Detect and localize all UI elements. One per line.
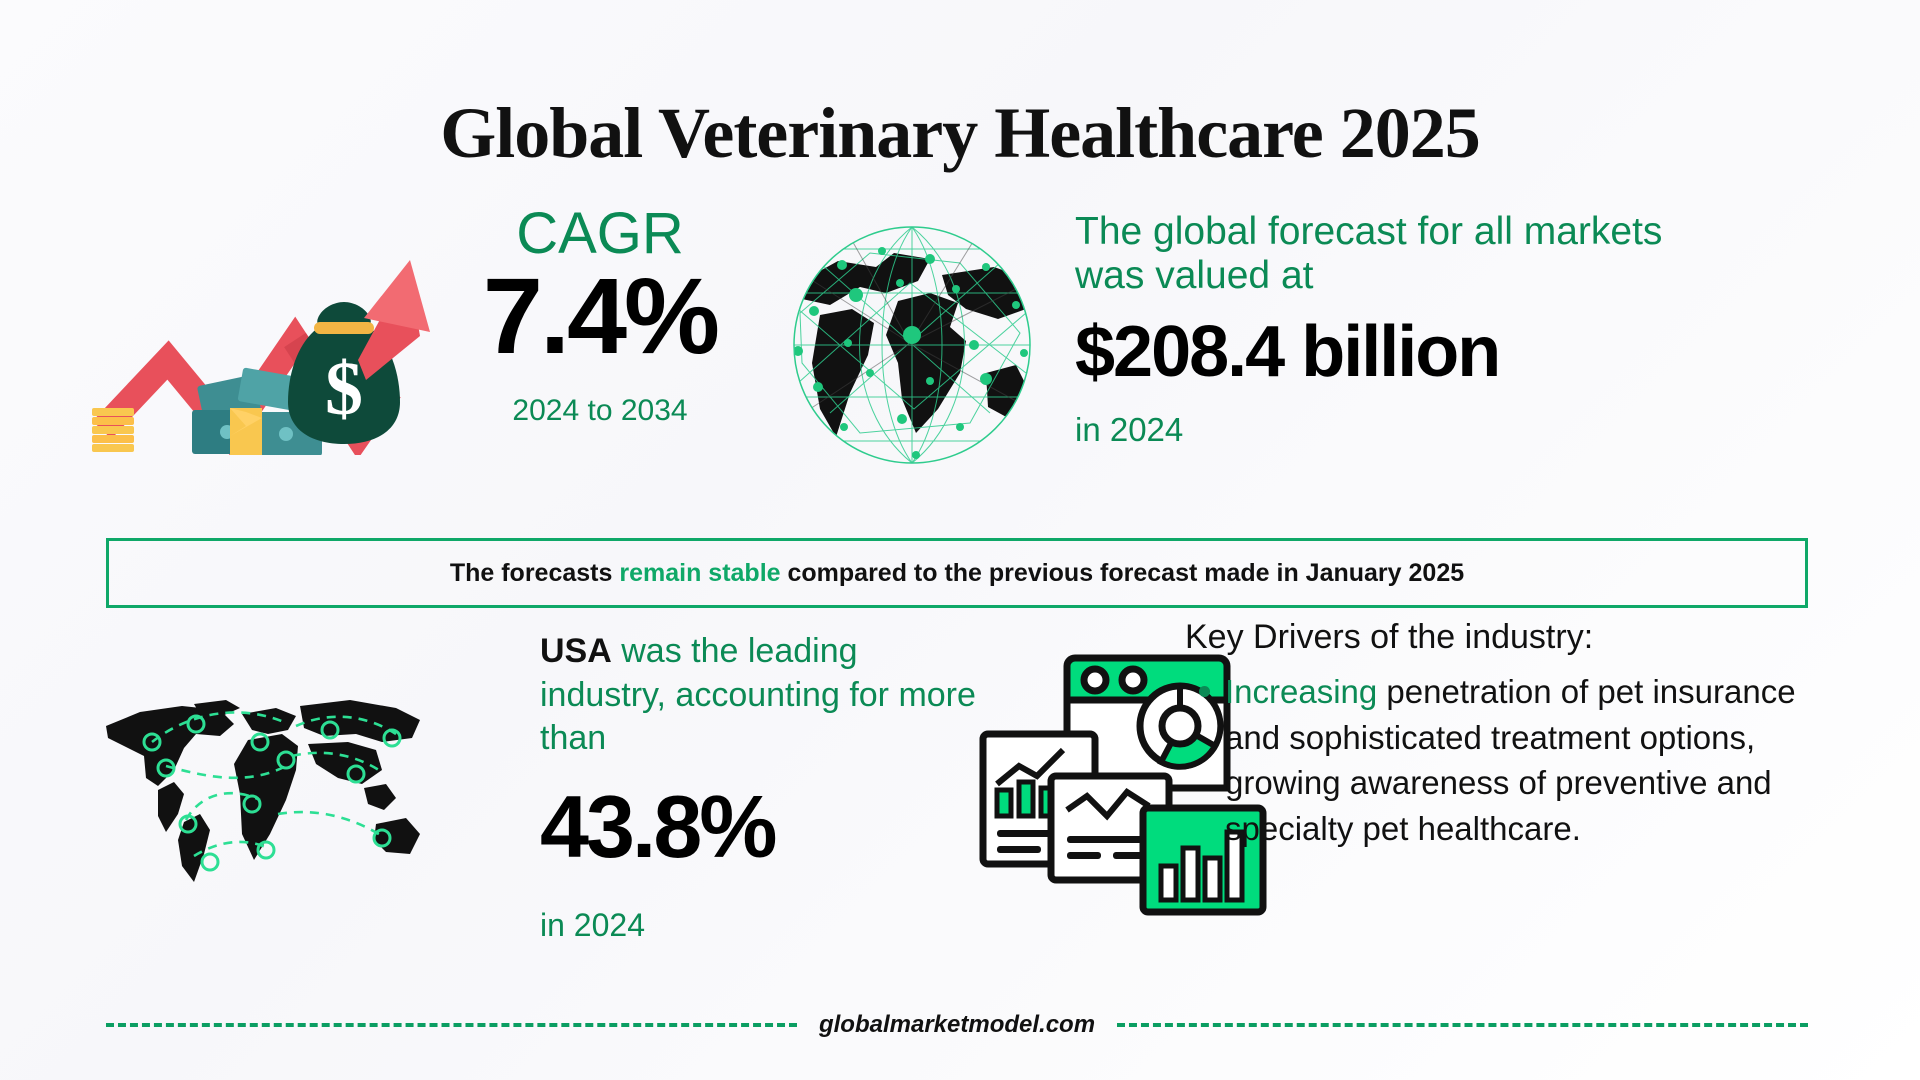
leading-region-period: in 2024: [540, 907, 980, 944]
footer-rule-left: [106, 1023, 797, 1027]
forecast-stability-banner: The forecasts remain stable compared to …: [106, 538, 1808, 608]
banner-highlight: remain stable: [619, 559, 780, 587]
footer-rule-right: [1117, 1023, 1808, 1027]
market-value-period: in 2024: [1075, 411, 1715, 449]
market-value-lead: The global forecast for all markets was …: [1075, 210, 1715, 297]
key-drivers-title: Key Drivers of the industry:: [1185, 615, 1825, 659]
banner-text: The forecasts remain stable compared to …: [450, 559, 1464, 588]
leading-region-country: USA: [540, 632, 612, 670]
footer-source: globalmarketmodel.com: [819, 1011, 1095, 1039]
leading-region-value: 43.8%: [540, 783, 980, 871]
leading-region-stat: USA was the leading industry, accounting…: [540, 630, 980, 944]
footer: globalmarketmodel.com: [106, 1005, 1808, 1045]
market-value-stat: The global forecast for all markets was …: [1075, 210, 1715, 449]
key-drivers-section: Key Drivers of the industry: Increasing …: [1185, 615, 1825, 851]
cagr-value: 7.4%: [420, 259, 780, 372]
key-drivers-list: Increasing penetration of pet insurance …: [1185, 669, 1825, 851]
driver-highlight: Increasing: [1225, 673, 1377, 710]
network-globe-icon: [790, 223, 1035, 468]
cagr-stat: CAGR 7.4% 2024 to 2034: [420, 205, 780, 428]
row-bottom: USA was the leading industry, accounting…: [90, 630, 1830, 970]
banner-prefix: The forecasts: [450, 559, 620, 587]
market-value-amount: $208.4 billion: [1075, 313, 1715, 392]
cagr-period: 2024 to 2034: [420, 394, 780, 428]
rising-arrow-money-icon: $: [90, 240, 430, 455]
row-top: $ CAGR 7.4% 2024 to 2034: [90, 205, 1830, 505]
svg-text:$: $: [325, 347, 363, 431]
world-map-icon: [100, 690, 430, 890]
banner-suffix: compared to the previous forecast made i…: [781, 559, 1465, 587]
page-title: Global Veterinary Healthcare 2025: [0, 92, 1920, 175]
leading-region-lead: USA was the leading industry, accounting…: [540, 630, 980, 761]
list-item: Increasing penetration of pet insurance …: [1225, 669, 1825, 851]
infographic-canvas: Global Veterinary Healthcare 2025: [0, 0, 1920, 1080]
